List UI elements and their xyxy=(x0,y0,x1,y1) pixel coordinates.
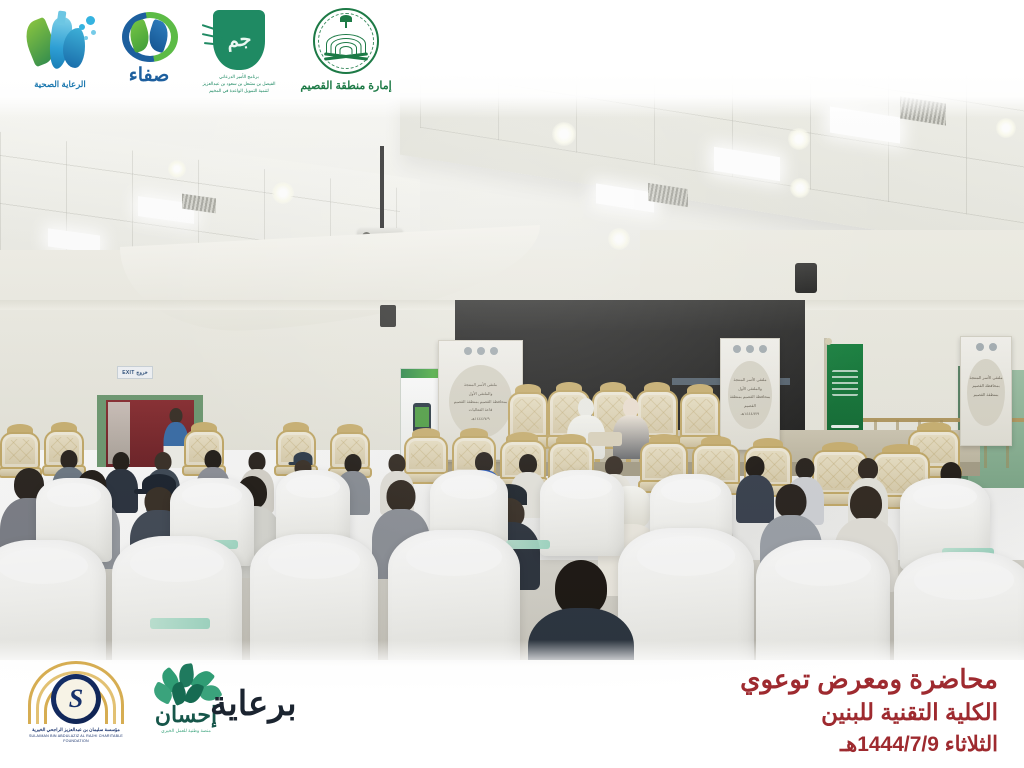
ehsan-tagline: منصة وطنية للعمل الخيري xyxy=(161,728,211,734)
gold-arch-icon: S xyxy=(30,662,122,724)
downlight-icon xyxy=(996,118,1016,138)
downlight-icon xyxy=(790,178,810,198)
banner-line: والملتقى الأول xyxy=(447,390,513,398)
banner-line: والملتقى الأول xyxy=(727,385,773,393)
qassim-emirate-logo: إمارة منطقة القصيم xyxy=(286,0,406,118)
shield-logo-caption: برنامج الأمير الدرعاني الفيصل بن مشعل بن… xyxy=(203,74,276,94)
ehsan-wordmark: إحسان xyxy=(155,704,217,726)
downlight-icon xyxy=(552,122,576,146)
footer-bar: S مؤسسة سليمان بن عبدالعزيز الراجحي الخي… xyxy=(0,648,1024,768)
event-title-line2: الكلية التقنية للبنين xyxy=(740,697,998,728)
sponsor-label: برعاية xyxy=(210,684,297,724)
banner-line: بمحافظة القصيم بمنطقة القصيم xyxy=(966,382,1006,399)
banner-line: ملتقى الأسر المنتجة xyxy=(966,374,1006,382)
event-title-block: محاضرة ومعرض توعوي الكلية التقنية للبنين… xyxy=(740,662,998,759)
downlight-icon xyxy=(272,182,294,204)
ministry-of-interior-emblem-icon xyxy=(313,8,379,74)
event-banner: ملتقى الأسر المنتجة والملتقى الأول بمحاف… xyxy=(720,338,780,450)
circular-leaf-icon xyxy=(118,12,180,68)
downlight-icon xyxy=(168,160,186,178)
event-date: الثلاثاء 1444/7/9هـ xyxy=(740,730,998,759)
health-care-logo: الرعاية الصحية xyxy=(14,0,106,118)
event-banner: ملتقى الأسر المنتجة بمحافظة القصيم بمنطق… xyxy=(960,336,1012,446)
downlight-icon xyxy=(608,228,630,250)
safaa-logo: صفاء xyxy=(106,0,192,116)
leaf-flask-lungs-icon xyxy=(23,14,97,76)
al-rajhi-monogram: S xyxy=(69,686,83,712)
exit-sign-label: EXIT خروج xyxy=(122,370,148,376)
banner-line: ملتقى الأسر المنتجة xyxy=(727,376,773,384)
stage-backdrop-top xyxy=(455,300,805,330)
chair-sash xyxy=(150,618,210,629)
al-rajhi-charity-shield-logo: جم برنامج الأمير الدرعاني الفيصل بن مشعل… xyxy=(192,0,286,120)
navy-disc-icon: S xyxy=(51,674,101,724)
sponsor-logos: S مؤسسة سليمان بن عبدالعزيز الراجحي الخي… xyxy=(22,662,236,752)
health-care-logo-caption: الرعاية الصحية xyxy=(34,79,86,90)
banner-line: بمحافظة القصيم بمنطقة القصيم xyxy=(447,398,513,406)
shield-monogram: جم xyxy=(226,29,252,50)
header-logo-bar: الرعاية الصحية صفاء جم برنامج الأمير الد… xyxy=(0,0,1024,120)
exit-sign: EXIT خروج xyxy=(117,366,153,379)
green-shield-icon: جم xyxy=(213,10,265,70)
leaf-plant-icon xyxy=(155,664,217,706)
banner-line: ١٤٤٤/٧/٩هـ xyxy=(727,410,773,418)
wall-speaker-icon xyxy=(380,305,396,327)
banner-line: بمحافظة القصيم بمنطقة القصيم xyxy=(727,393,773,410)
qassim-emirate-caption: إمارة منطقة القصيم xyxy=(300,79,391,92)
banner-line: قاعة الفعاليات xyxy=(447,406,513,414)
event-title-line1: محاضرة ومعرض توعوي xyxy=(740,662,998,697)
wall-speaker-icon xyxy=(795,263,817,293)
downlight-icon xyxy=(788,128,810,150)
event-poster: EXIT خروج ملتقى الأسر المنتجة والملتقى ا… xyxy=(0,0,1024,768)
covered-chair xyxy=(540,470,624,556)
al-rajhi-caption: مؤسسة سليمان بن عبدالعزيز الراجحي الخيري… xyxy=(22,727,130,745)
projector-mount-pole xyxy=(380,146,384,234)
banner-line: ملتقى الأسر المنتجة xyxy=(447,381,513,389)
banner-line: ١٤٤٤/٧/٩هـ xyxy=(447,415,513,423)
sulaiman-al-rajhi-foundation-logo: S مؤسسة سليمان بن عبدالعزيز الراجحي الخي… xyxy=(22,662,130,750)
